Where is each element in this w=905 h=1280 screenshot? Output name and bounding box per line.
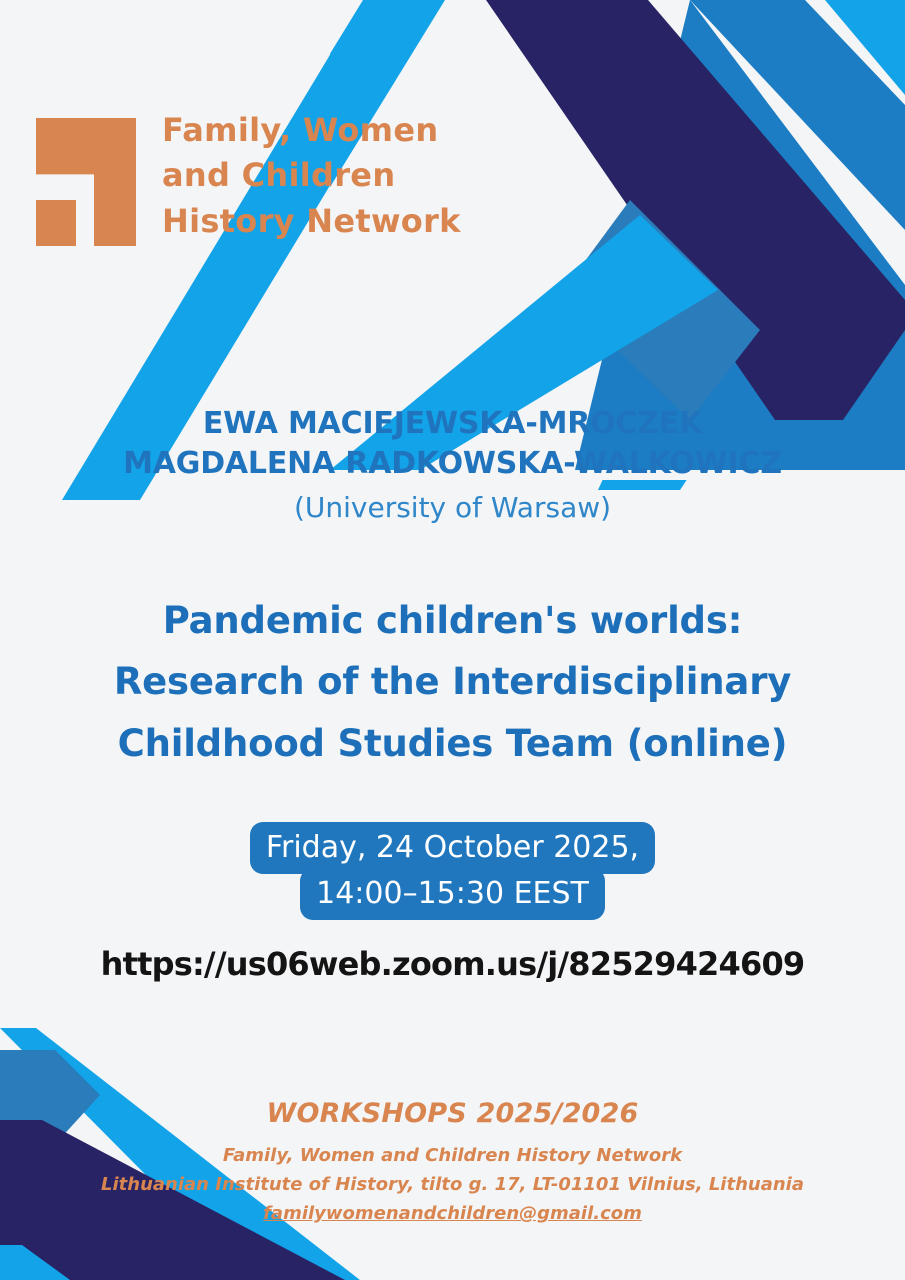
talk-title-line-1: Pandemic children's worlds: bbox=[40, 590, 865, 651]
datetime-date: Friday, 24 October 2025, bbox=[250, 822, 655, 874]
logo-mark-square-shape bbox=[36, 200, 76, 246]
stripe-navy-top bbox=[485, 0, 905, 420]
footer-email[interactable]: familywomenandchildren@gmail.com bbox=[0, 1199, 905, 1228]
speaker-name-1: EWA MACIEJEWSKA-MROCZEK bbox=[0, 404, 905, 444]
datetime-time: 14:00–15:30 EEST bbox=[300, 868, 605, 920]
datetime-badge: Friday, 24 October 2025, 14:00–15:30 EES… bbox=[0, 822, 905, 920]
zoom-meeting-link[interactable]: https://us06web.zoom.us/j/82529424609 bbox=[0, 945, 905, 983]
footer-block: WORKSHOPS 2025/2026 Family, Women and Ch… bbox=[0, 1098, 905, 1228]
stripe-medium-blue-main bbox=[455, 0, 800, 400]
band-medium-blue-under bbox=[575, 0, 905, 470]
talk-title: Pandemic children's worlds: Research of … bbox=[40, 590, 865, 774]
footer-organisation: Family, Women and Children History Netwo… bbox=[0, 1141, 905, 1170]
band-cyan-far-right bbox=[825, 0, 905, 95]
logo-mark-icon bbox=[36, 118, 136, 246]
speakers-block: EWA MACIEJEWSKA-MROCZEK MAGDALENA RADKOW… bbox=[0, 404, 905, 529]
event-poster: Family, Women and Children History Netwo… bbox=[0, 0, 905, 1280]
footer-workshops-heading: WORKSHOPS 2025/2026 bbox=[0, 1098, 905, 1129]
footer-address: Lithuanian Institute of History, tilto g… bbox=[0, 1170, 905, 1199]
band-medium-blue-right bbox=[690, 0, 905, 230]
stripe-cyan-bottom-left-lower bbox=[0, 1240, 110, 1280]
speaker-name-2: MAGDALENA RADKOWSKA-WALKOWICZ bbox=[0, 444, 905, 484]
talk-title-line-2: Research of the Interdisciplinary bbox=[40, 651, 865, 712]
band-blue-accent-square bbox=[560, 200, 760, 420]
band-navy bbox=[486, 0, 905, 420]
network-logo: Family, Women and Children History Netwo… bbox=[36, 108, 461, 246]
band-bl-cyan-2 bbox=[0, 1245, 70, 1280]
logo-wordmark: Family, Women and Children History Netwo… bbox=[162, 108, 461, 244]
talk-title-line-3: Childhood Studies Team (online) bbox=[40, 713, 865, 774]
stripe-medium-blue-right bbox=[560, 0, 905, 395]
stripe-medium-blue-lower bbox=[700, 170, 905, 400]
speaker-affiliation: (University of Warsaw) bbox=[0, 487, 905, 529]
